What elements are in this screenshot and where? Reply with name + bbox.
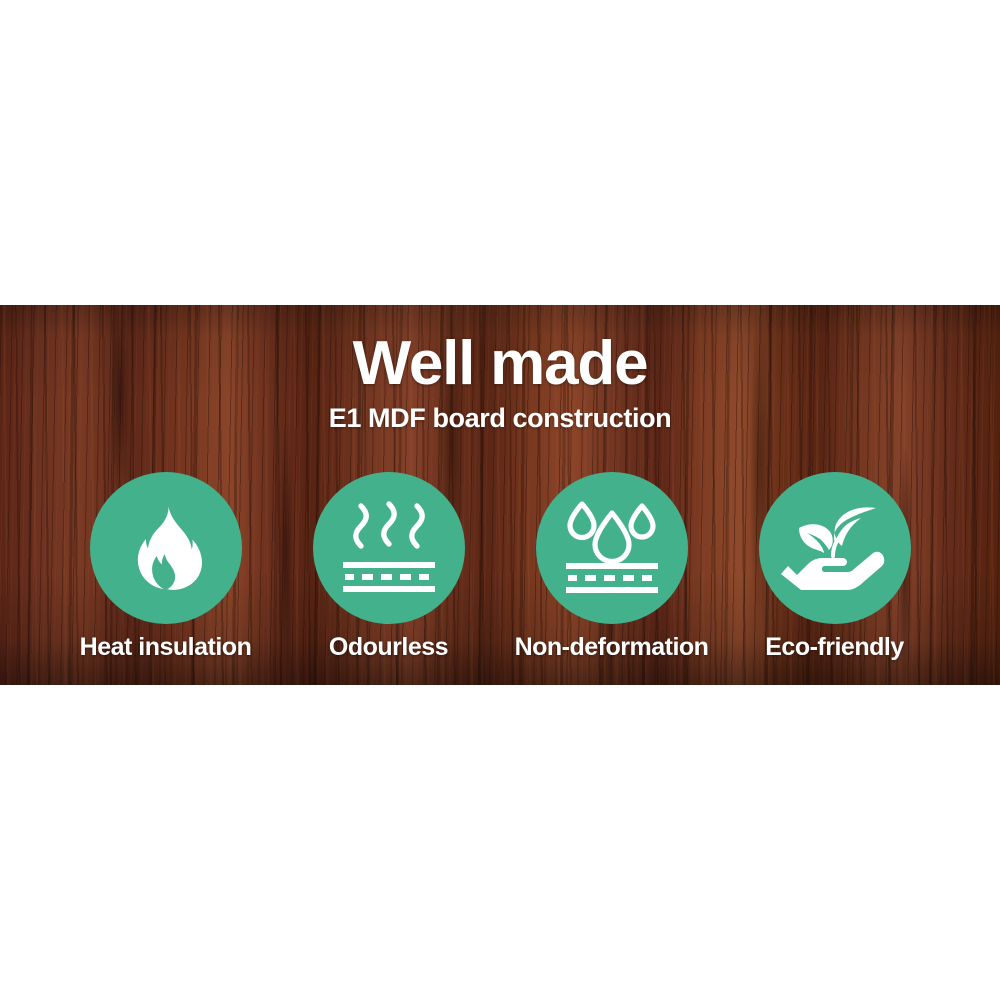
feature-icon-badge: [759, 472, 911, 624]
feature-label: Non-deformation: [515, 633, 709, 662]
heading-block: Well made E1 MDF board construction: [0, 332, 1000, 434]
wood-background-panel: Well made E1 MDF board construction Heat…: [0, 305, 1000, 685]
water-droplets-over-board-icon: [560, 499, 664, 597]
product-feature-banner: Well made E1 MDF board construction Heat…: [0, 0, 1000, 1000]
feature-label: Heat insulation: [80, 633, 252, 662]
feature-icon-badge: [536, 472, 688, 624]
page-title: Well made: [0, 332, 1000, 395]
feature-icon-badge: [313, 472, 465, 624]
hand-holding-leaves-icon: [781, 506, 889, 590]
vapor-waves-over-board-icon: [339, 500, 439, 596]
feature-label: Eco-friendly: [765, 633, 903, 662]
feature-icon-badge: [90, 472, 242, 624]
flame-icon: [127, 505, 205, 591]
feature-list: Heat insulation: [0, 472, 1000, 672]
feature-label: Odourless: [329, 633, 448, 662]
feature-item-non-deformation: Non-deformation: [500, 472, 723, 662]
feature-item-heat-insulation: Heat insulation: [54, 472, 277, 662]
feature-item-odourless: Odourless: [277, 472, 500, 662]
feature-item-eco-friendly: Eco-friendly: [723, 472, 946, 662]
page-subtitle: E1 MDF board construction: [0, 404, 1000, 434]
